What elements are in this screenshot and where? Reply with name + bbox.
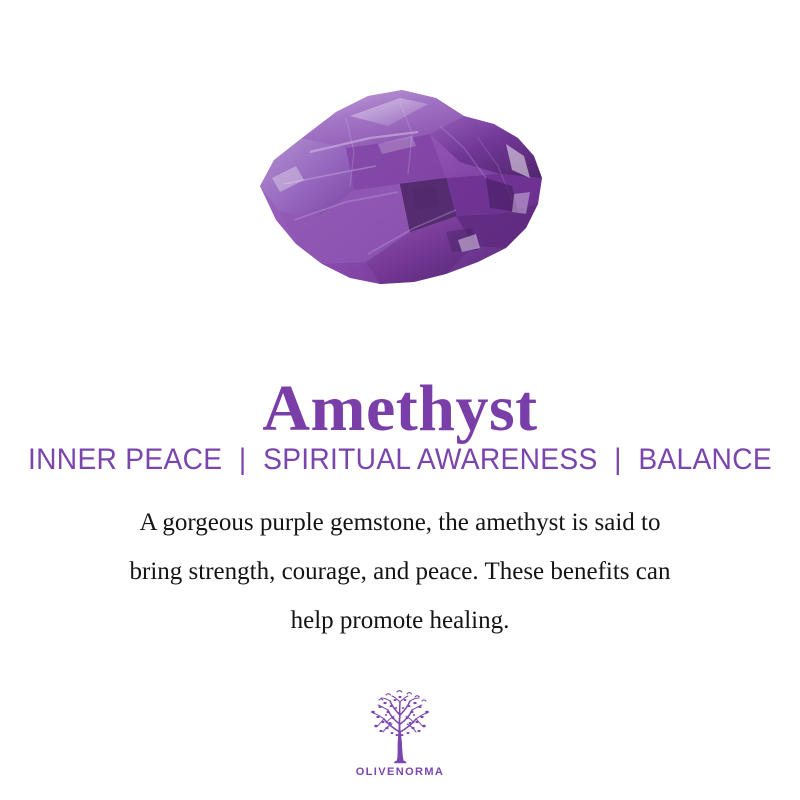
description-line: bring strength, courage, and peace. Thes… <box>60 547 740 596</box>
amethyst-info-card: Amethyst INNER PEACE | SPIRITUAL AWARENE… <box>0 0 800 800</box>
tree-of-life-icon <box>357 688 443 764</box>
description-line: A gorgeous purple gemstone, the amethyst… <box>60 498 740 547</box>
brand-logo: OLIVENORMA <box>0 688 800 778</box>
keyword-balance: BALANCE <box>638 443 772 477</box>
page-title: Amethyst <box>0 376 800 442</box>
amethyst-stone-image <box>250 82 550 294</box>
description-text: A gorgeous purple gemstone, the amethyst… <box>60 498 740 645</box>
keyword-inner-peace: INNER PEACE <box>28 443 222 477</box>
keyword-separator: | <box>606 443 631 477</box>
keyword-list: INNER PEACE | SPIRITUAL AWARENESS | BALA… <box>24 443 776 477</box>
description-line: help promote healing. <box>60 596 740 645</box>
amethyst-crystal-icon <box>250 82 550 294</box>
brand-wordmark: OLIVENORMA <box>356 766 445 778</box>
keyword-spiritual-awareness: SPIRITUAL AWARENESS <box>263 443 597 477</box>
keyword-separator: | <box>230 443 255 477</box>
